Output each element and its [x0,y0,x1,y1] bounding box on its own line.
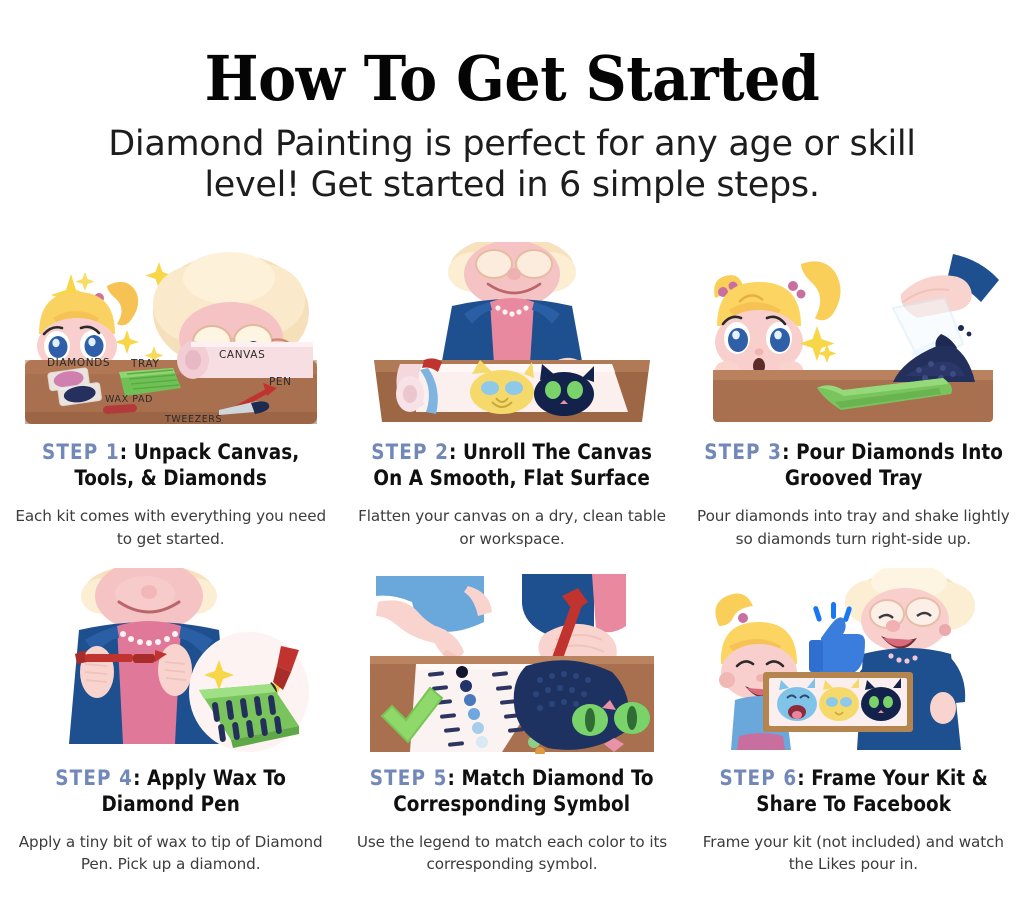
step-5-illustration [353,558,670,754]
step-card-6: STEP 6: Frame Your Kit & Share To Facebo… [683,558,1024,876]
step-card-4: STEP 4: Apply Wax To Diamond Pen Apply a… [0,558,341,876]
step-3-body: Pour diamonds into tray and shake lightl… [695,505,1012,549]
step-2-label: STEP 2 [372,440,450,465]
step-4-body: Apply a tiny bit of wax to tip of Diamon… [12,831,329,875]
step-4-heading: STEP 4: Apply Wax To Diamond Pen [20,766,321,818]
step-6-separator: : [797,766,804,791]
art-label-diamonds: DIAMONDS [47,357,110,369]
step-2-body: Flatten your canvas on a dry, clean tabl… [353,505,670,549]
step-card-5: STEP 5: Match Diamond To Corresponding S… [341,558,682,876]
step-6-illustration [695,558,1012,754]
step-4-label: STEP 4 [55,766,133,791]
step-6-label: STEP 6 [719,766,797,791]
step-5-heading: STEP 5: Match Diamond To Corresponding S… [361,766,662,818]
step-5-label: STEP 5 [370,766,448,791]
unrolled-canvas [396,358,628,416]
step-4-illustration [12,558,329,754]
step-6-body: Frame your kit (not included) and watch … [695,831,1012,875]
step-6-heading: STEP 6: Frame Your Kit & Share To Facebo… [703,766,1004,818]
left-person-arm [376,576,492,670]
step-1-illustration: DIAMONDS TRAY WAX PAD CANVAS PEN TWEEZER… [12,232,329,428]
step-4-separator: : [133,766,140,791]
girl-character [714,261,840,379]
page-subtitle: Diamond Painting is perfect for any age … [82,124,942,207]
step-card-2: STEP 2: Unroll The Canvas On A Smooth, F… [341,232,682,550]
step-3-label: STEP 3 [704,440,782,465]
step-3-separator: : [782,440,789,465]
step-3-illustration [695,232,1012,428]
sparkle-icon [800,326,837,363]
art-label-wax-pad: WAX PAD [105,394,153,405]
header: How To Get Started Diamond Painting is p… [0,0,1024,207]
step-5-separator: : [448,766,455,791]
step-2-illustration [353,232,670,428]
step-1-heading: STEP 1: Unpack Canvas, Tools, & Diamonds [20,440,321,492]
how-to-get-started-infographic: How To Get Started Diamond Painting is p… [0,0,1024,922]
step-2-heading: STEP 2: Unroll The Canvas On A Smooth, F… [361,440,662,492]
step-3-heading-text: Pour Diamonds Into Grooved Tray [784,440,1002,491]
step-1-body: Each kit comes with everything you need … [12,505,329,549]
step-3-heading: STEP 3: Pour Diamonds Into Grooved Tray [703,440,1004,492]
step-5-body: Use the legend to match each color to it… [353,831,670,875]
step-1-label: STEP 1 [42,440,120,465]
step-1-separator: : [120,440,127,465]
step-2-separator: : [449,440,456,465]
steps-grid: DIAMONDS TRAY WAX PAD CANVAS PEN TWEEZER… [0,232,1024,876]
step-card-1: DIAMONDS TRAY WAX PAD CANVAS PEN TWEEZER… [0,232,341,550]
art-label-tweezers: TWEEZERS [164,414,222,425]
step-card-3: STEP 3: Pour Diamonds Into Grooved Tray … [683,232,1024,550]
zoom-detail-circle [189,632,309,752]
framed-painting [763,672,913,732]
art-label-canvas: CANVAS [219,349,265,361]
art-label-tray: TRAY [130,358,159,370]
page-title: How To Get Started [41,48,983,110]
art-label-pen: PEN [269,376,292,388]
